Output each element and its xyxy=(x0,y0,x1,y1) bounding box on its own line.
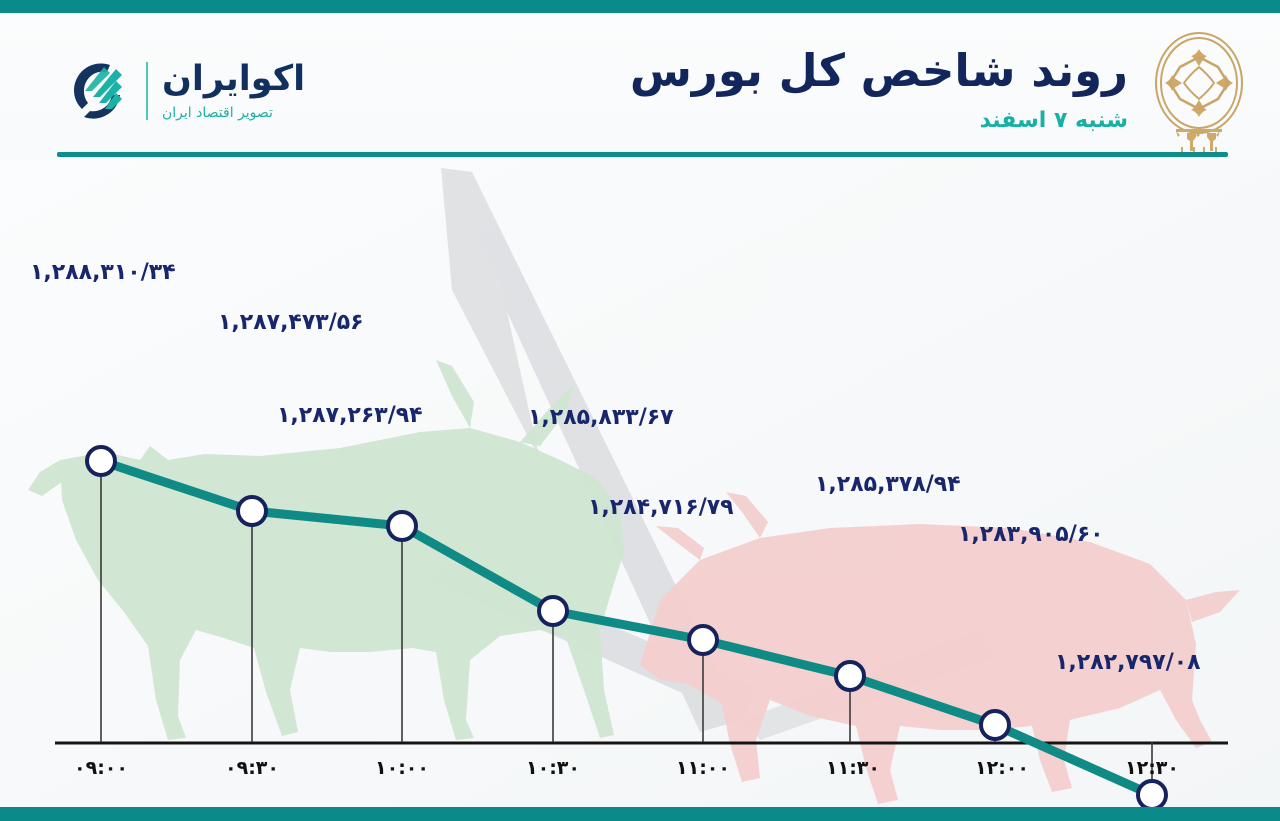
infographic-page: اکوایران تصویر اقتصاد ایران روند شاخص کل… xyxy=(0,0,1280,821)
tehran-stock-exchange-emblem-icon xyxy=(1140,29,1258,159)
brand-tagline: تصویر اقتصاد ایران xyxy=(162,106,273,120)
title-block: روند شاخص کل بورس شنبه ۷ اسفند xyxy=(630,47,1128,133)
header-divider xyxy=(57,152,1228,157)
eco-iran-swoosh-logo-icon xyxy=(60,55,132,127)
x-tick-label: ۱۰:۳۰ xyxy=(526,757,580,779)
page-title: روند شاخص کل بورس xyxy=(630,47,1128,94)
point-value-label: ۱,۲۸۷,۲۶۳/۹۴ xyxy=(277,403,423,428)
x-tick-label: ۱۱:۳۰ xyxy=(826,757,880,779)
point-value-label: ۱,۲۸۷,۴۷۳/۵۶ xyxy=(218,310,364,335)
x-tick-label: ۱۱:۰۰ xyxy=(676,757,730,779)
x-tick-label: ۰۹:۰۰ xyxy=(74,757,128,779)
x-tick-label: ۱۲:۰۰ xyxy=(975,757,1029,779)
point-value-label: ۱,۲۸۸,۳۱۰/۳۴ xyxy=(30,260,176,285)
x-tick-label: ۱۲:۳۰ xyxy=(1125,757,1179,779)
x-tick-label: ۰۹:۳۰ xyxy=(225,757,279,779)
point-value-label: ۱,۲۸۵,۳۷۸/۹۴ xyxy=(815,472,961,497)
page-subtitle: شنبه ۷ اسفند xyxy=(630,108,1128,133)
point-value-label: ۱,۲۸۲,۷۹۷/۰۸ xyxy=(1055,650,1201,675)
bottom-accent-bar xyxy=(0,807,1280,821)
brand-logo: اکوایران تصویر اقتصاد ایران xyxy=(60,55,305,127)
index-trend-chart: ۱,۲۸۸,۳۱۰/۳۴ ۱,۲۸۷,۴۷۳/۵۶ ۱,۲۸۷,۲۶۳/۹۴ ۱… xyxy=(0,160,1280,808)
brand-name: اکوایران xyxy=(162,62,305,97)
x-axis-labels: ۰۹:۰۰ ۰۹:۳۰ ۱۰:۰۰ ۱۰:۳۰ ۱۱:۰۰ ۱۱:۳۰ ۱۲:۰… xyxy=(0,757,1280,805)
x-tick-label: ۱۰:۰۰ xyxy=(375,757,429,779)
top-accent-bar xyxy=(0,0,1280,13)
header: اکوایران تصویر اقتصاد ایران روند شاخص کل… xyxy=(0,13,1280,160)
point-value-label: ۱,۲۸۵,۸۳۳/۶۷ xyxy=(528,405,674,430)
logo-divider xyxy=(146,62,148,120)
point-value-label: ۱,۲۸۴,۷۱۶/۷۹ xyxy=(588,495,734,520)
point-value-label: ۱,۲۸۳,۹۰۵/۶۰ xyxy=(958,522,1104,547)
brand-logo-text: اکوایران تصویر اقتصاد ایران xyxy=(162,62,305,120)
